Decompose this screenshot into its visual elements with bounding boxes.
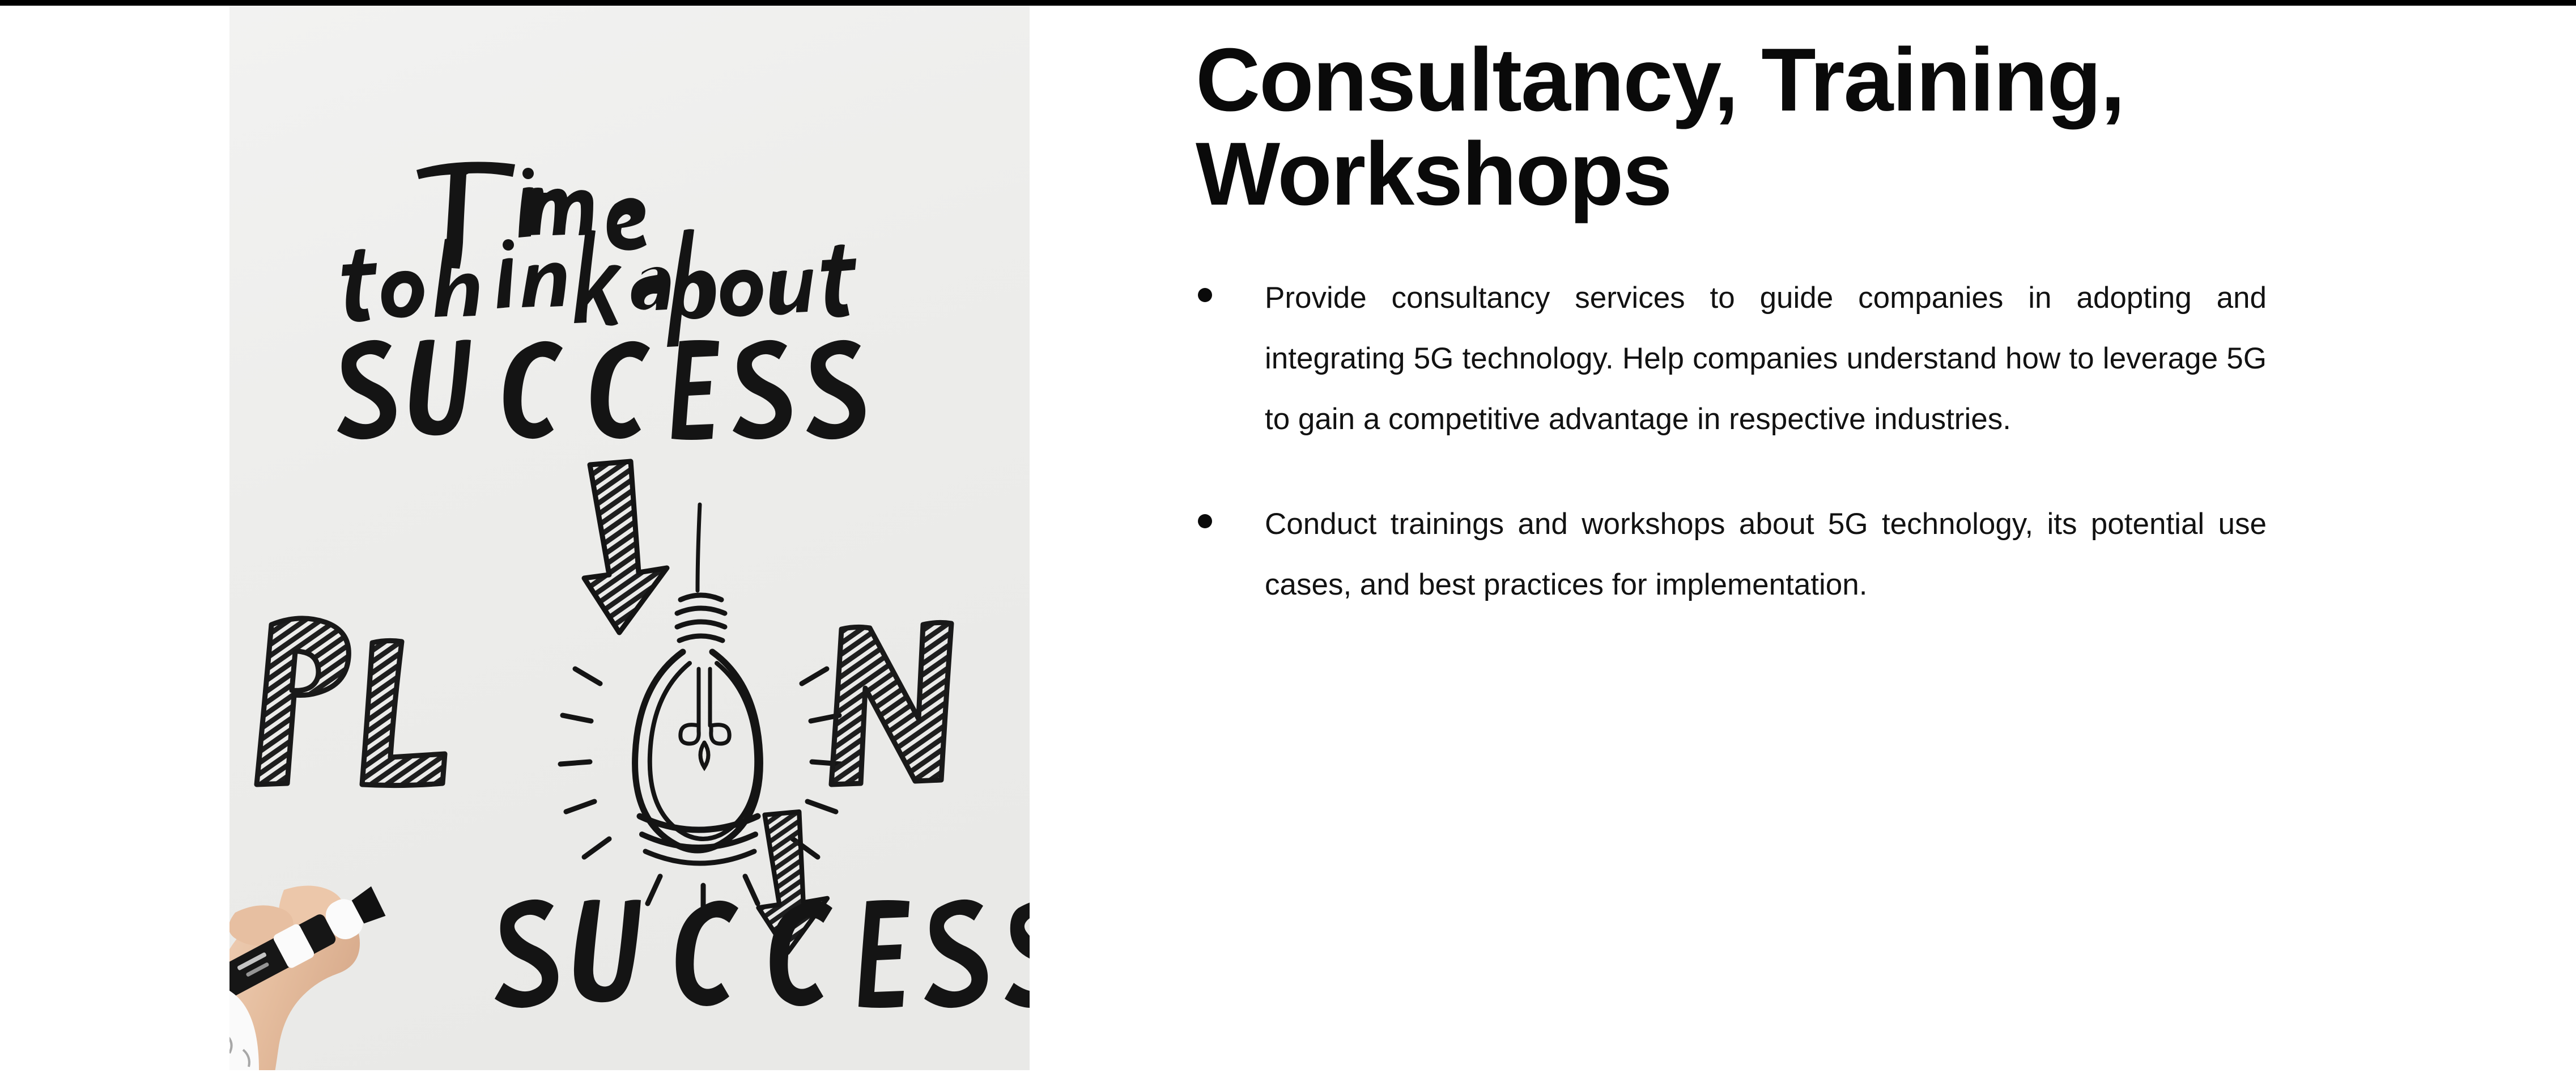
list-item: Conduct trainings and workshops about 5G… [1196, 494, 2267, 615]
bullet-list: Provide consultancy services to guide co… [1196, 268, 2267, 615]
bullet-dot-icon [1198, 514, 1212, 528]
bullet-text: Provide consultancy services to guide co… [1265, 268, 2267, 449]
bullet-dot-icon [1198, 288, 1212, 302]
slide-content: Consultancy, Training, Workshops Provide… [1196, 33, 2267, 615]
whiteboard-success-plan-image [229, 6, 1030, 1070]
photo-illustration [229, 6, 1030, 1070]
list-item: Provide consultancy services to guide co… [1196, 268, 2267, 449]
page-title: Consultancy, Training, Workshops [1196, 33, 2267, 221]
slide-canvas: Consultancy, Training, Workshops Provide… [0, 6, 2576, 1073]
bullet-text: Conduct trainings and workshops about 5G… [1265, 494, 2267, 615]
top-black-bar [0, 0, 2576, 6]
